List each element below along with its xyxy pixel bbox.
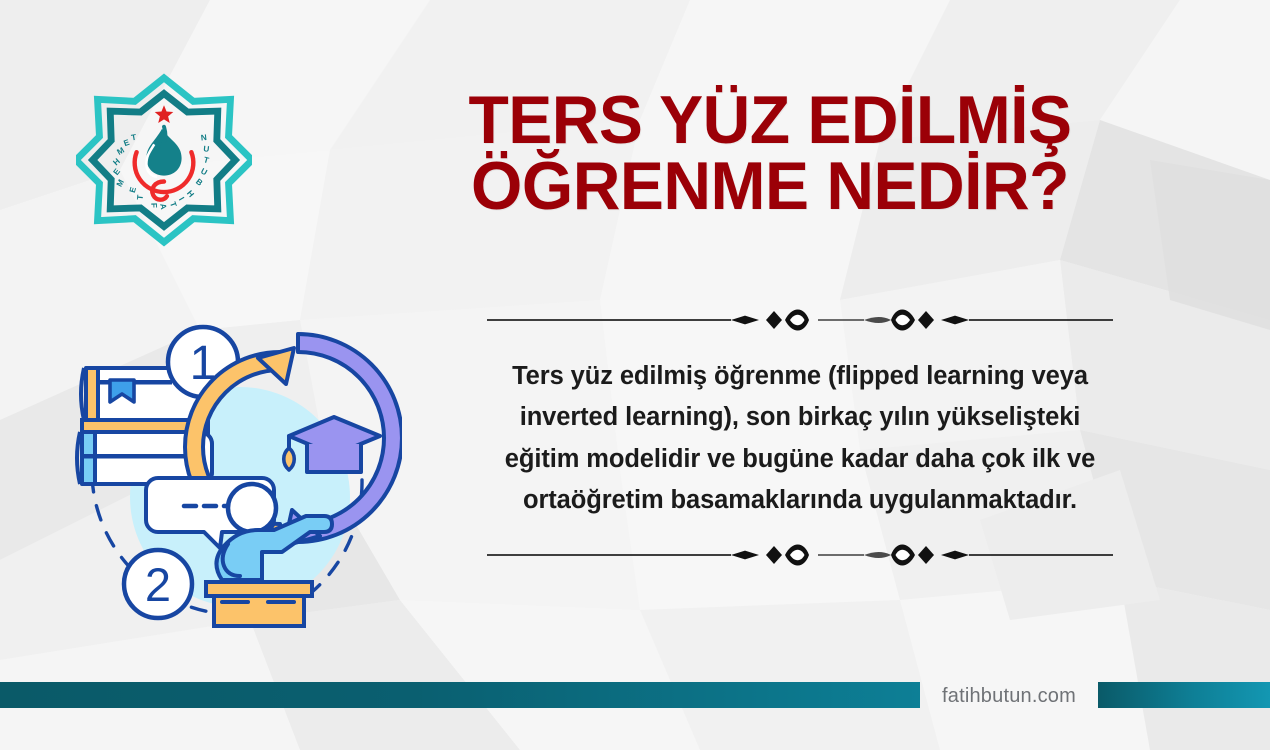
svg-text:T: T — [136, 194, 145, 200]
logo-star-icon — [155, 105, 174, 123]
svg-text:I: I — [177, 196, 186, 202]
logo-flame-icon — [135, 127, 194, 200]
footer: fatihbutun.com — [0, 660, 1270, 750]
site-url-label: fatihbutun.com — [920, 685, 1098, 708]
flipped-learning-illustration: 1 — [62, 312, 402, 632]
badge-2-label: 2 — [145, 558, 171, 611]
svg-text:N: N — [200, 133, 207, 143]
svg-text:T: T — [203, 155, 210, 165]
site-logo: M E H M E T E T F A T I H B U T U N — [76, 72, 252, 248]
svg-text:H: H — [111, 157, 121, 168]
svg-text:T: T — [168, 201, 178, 209]
body-paragraph: Ters yüz edilmiş öğrenme (flipped learni… — [487, 340, 1113, 535]
svg-text:B: B — [194, 177, 204, 188]
title-line-1: TERS YÜZ EDİLMİŞ — [421, 88, 1119, 154]
content-panel: Ters yüz edilmiş öğrenme (flipped learni… — [487, 300, 1113, 575]
svg-text:A: A — [158, 203, 168, 210]
illustration: 1 — [62, 312, 402, 632]
svg-text:M: M — [115, 178, 126, 188]
svg-text:T: T — [131, 133, 138, 143]
svg-text:U: U — [199, 167, 209, 178]
ornamental-divider-icon — [487, 535, 1113, 575]
svg-text:E: E — [122, 138, 131, 149]
footer-bar-left — [0, 682, 920, 708]
footer-bar-right — [1098, 682, 1270, 708]
svg-text:H: H — [185, 189, 196, 199]
svg-text:F: F — [149, 203, 158, 208]
page-title: TERS YÜZ EDİLMİŞ ÖĞRENME NEDİR? — [410, 88, 1130, 220]
divider-bottom — [487, 535, 1113, 575]
ornamental-divider-icon — [487, 300, 1113, 340]
title-line-2: ÖĞRENME NEDİR? — [421, 154, 1119, 220]
svg-text:E: E — [128, 186, 138, 194]
divider-top — [487, 300, 1113, 340]
svg-text:U: U — [203, 144, 210, 154]
footer-bar-row: fatihbutun.com — [0, 682, 1270, 708]
logo-mark: M E H M E T E T F A T I H B U T U N — [76, 72, 252, 248]
numbered-badge-2: 2 — [124, 550, 192, 618]
svg-text:E: E — [112, 167, 123, 177]
